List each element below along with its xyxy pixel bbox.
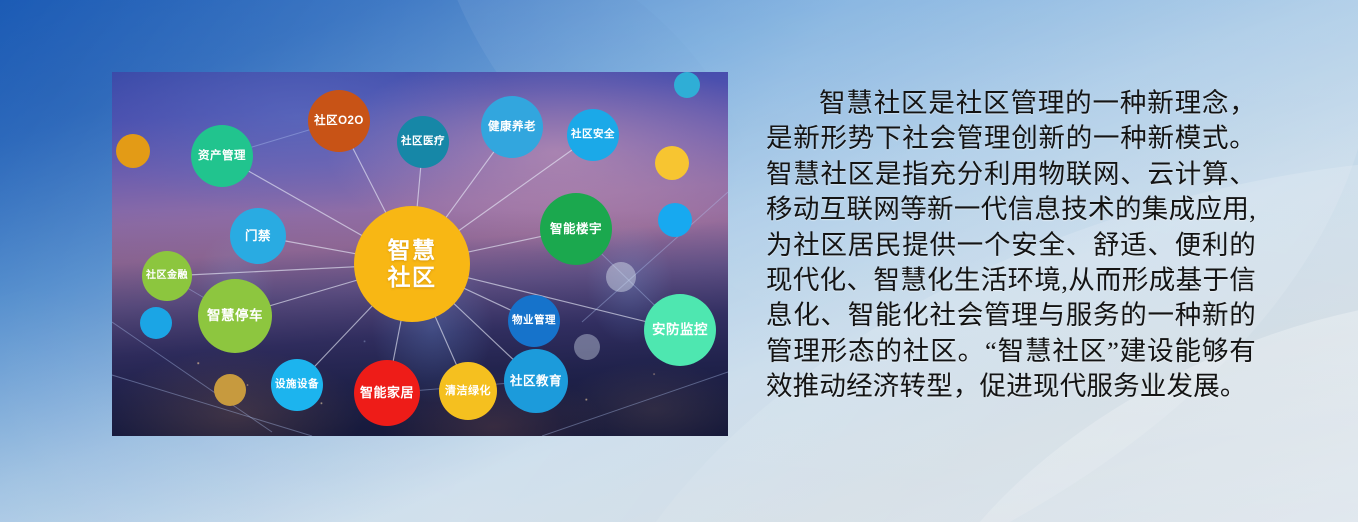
dot-teal-top [674,72,700,98]
center-label-line1: 智慧 [388,237,437,263]
bubble-0[interactable]: 社区O2O [308,90,370,152]
dot-orange-left [116,134,150,168]
bubble-label: 智慧停车 [207,308,263,323]
bubble-label: 智能楼宇 [550,222,602,236]
bubble-label: 健康养老 [488,121,536,134]
bubble-7[interactable]: 安防监控 [644,294,716,366]
bubble-label: 社区O2O [314,115,364,128]
bubble-label: 社区医疗 [401,136,445,148]
dot-yellow-right [655,146,689,180]
dot-gold-bottom [214,374,246,406]
bubble-6[interactable]: 物业管理 [508,295,560,347]
bubble-label: 物业管理 [512,315,556,327]
bubble-label: 资产管理 [198,150,246,163]
bubble-12[interactable]: 智慧停车 [198,279,272,353]
bubble-1[interactable]: 资产管理 [191,125,253,187]
bubble-9[interactable]: 清洁绿化 [439,362,497,420]
bubble-label: 社区金融 [146,270,188,281]
bubble-5[interactable]: 智能楼宇 [540,193,612,265]
bubble-8[interactable]: 社区教育 [504,349,568,413]
bubble-14[interactable]: 门禁 [230,208,286,264]
bubble-10[interactable]: 智能家居 [354,360,420,426]
smart-community-diagram-image: 社区O2O资产管理社区医疗健康养老社区安全智能楼宇物业管理安防监控社区教育清洁绿… [112,72,728,436]
bubble-3[interactable]: 健康养老 [481,96,543,158]
bubble-label: 智能家居 [360,386,414,401]
bubble-11[interactable]: 设施设备 [271,359,323,411]
center-bubble-smart-community[interactable]: 智慧 社区 [354,206,470,322]
dot-grey-b [574,334,600,360]
center-label-line2: 社区 [388,264,437,290]
bubble-label: 社区教育 [510,374,562,388]
bubble-13[interactable]: 社区金融 [142,251,192,301]
slide-canvas: 社区O2O资产管理社区医疗健康养老社区安全智能楼宇物业管理安防监控社区教育清洁绿… [0,0,1358,522]
bubble-label: 安防监控 [652,322,708,337]
dot-blue-left [140,307,172,339]
dot-cyan-right [658,203,692,237]
dot-grey-a [606,262,636,292]
description-paragraph: 智慧社区是社区管理的一种新理念，是新形势下社会管理创新的一种新模式。智慧社区是指… [766,86,1256,404]
bubble-4[interactable]: 社区安全 [567,109,619,161]
bubble-label: 清洁绿化 [445,385,491,397]
bubble-label: 社区安全 [571,129,615,141]
bubble-label: 门禁 [245,229,271,243]
bubble-2[interactable]: 社区医疗 [397,116,449,168]
bubble-label: 设施设备 [275,379,319,391]
